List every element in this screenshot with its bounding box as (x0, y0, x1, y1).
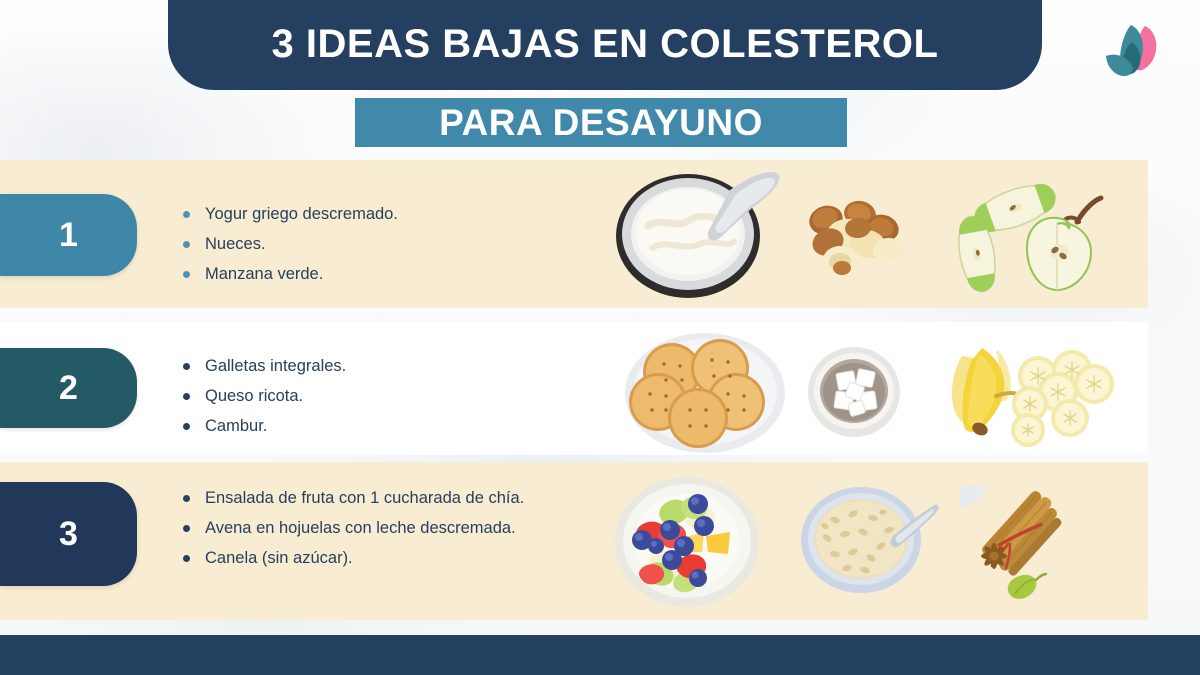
row-2-number-badge: 2 (0, 348, 137, 428)
row-3-bullet-list: Ensalada de fruta con 1 cucharada de chí… (180, 484, 535, 574)
row-1-number: 1 (59, 218, 78, 252)
list-item: Canela (sin azúcar). (180, 544, 535, 572)
page-title: 3 IDEAS BAJAS EN COLESTEROL (272, 22, 939, 67)
row-1-number-badge: 1 (0, 194, 137, 276)
header-bar: 3 IDEAS BAJAS EN COLESTEROL (168, 0, 1042, 90)
walnuts-nuts-image (798, 198, 908, 285)
butterfly-logo (1098, 16, 1172, 92)
row-2-number: 2 (59, 371, 78, 405)
idea-row-1: 1 Yogur griego descremado. Nueces. Manza… (0, 160, 1148, 308)
list-item: Queso ricota. (180, 382, 535, 410)
bottom-bar (0, 635, 1200, 675)
list-item: Avena en hojuelas con leche descremada. (180, 514, 535, 542)
list-item: Manzana verde. (180, 260, 535, 288)
yogurt-bowl-with-spoon-image (610, 168, 820, 303)
banana-with-slices-image (920, 334, 1120, 454)
idea-row-2: 2 Galletas integrales. Queso ricota. Cam… (0, 322, 1148, 455)
green-apple-halves-image (945, 176, 1120, 306)
subtitle-box: PARA DESAYUNO (355, 98, 847, 147)
infographic-canvas: 3 IDEAS BAJAS EN COLESTEROL PARA DESAYUN… (0, 0, 1200, 675)
row-3-number-badge: 3 (0, 482, 137, 586)
row-3-number: 3 (59, 517, 78, 551)
list-item: Galletas integrales. (180, 352, 535, 380)
list-item: Nueces. (180, 230, 535, 258)
page-subtitle: PARA DESAYUNO (439, 102, 763, 144)
row-2-bullet-list: Galletas integrales. Queso ricota. Cambu… (180, 352, 535, 442)
oatmeal-bowl-with-spoon-image (795, 484, 940, 599)
idea-row-3: 3 Ensalada de fruta con 1 cucharada de c… (0, 462, 1148, 620)
list-item: Ensalada de fruta con 1 cucharada de chí… (180, 484, 535, 512)
ricotta-cheese-bowl-image (805, 340, 903, 445)
fruit-salad-plate-image (612, 474, 762, 614)
whole-grain-crackers-plate-image (620, 330, 790, 460)
list-item: Cambur. (180, 412, 535, 440)
row-1-bullet-list: Yogur griego descremado. Nueces. Manzana… (180, 200, 535, 290)
cinnamon-sticks-star-anise-image (960, 480, 1100, 610)
list-item: Yogur griego descremado. (180, 200, 535, 228)
